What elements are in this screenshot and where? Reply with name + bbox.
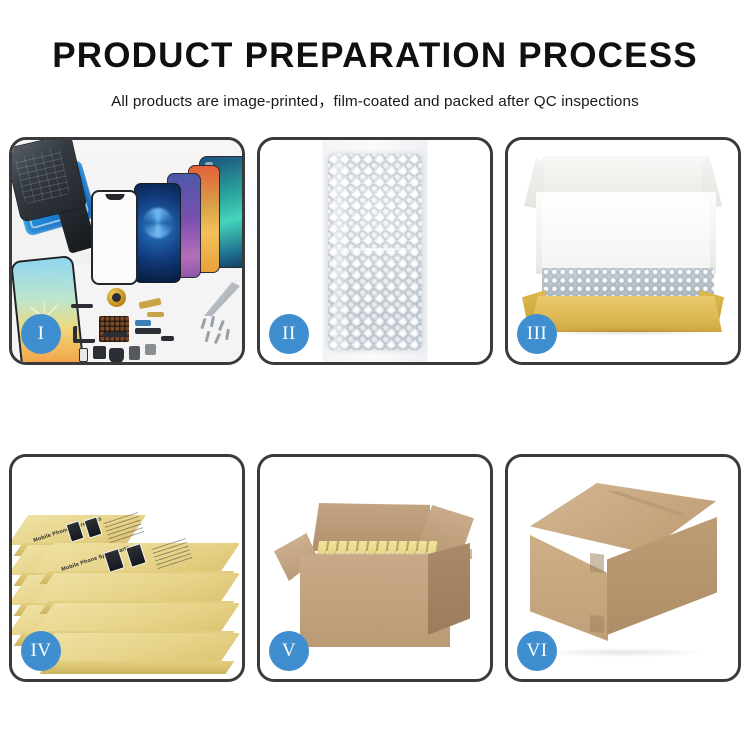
flex-cable-b (139, 298, 162, 309)
box-top-face (34, 603, 240, 633)
screw-icon (200, 318, 206, 329)
step-panel-3: III (505, 137, 741, 365)
screw-icon (205, 331, 211, 342)
step-panel-6: VI (505, 454, 741, 682)
header: PRODUCT PREPARATION PROCESS All products… (0, 0, 750, 111)
vibrator-motor-part (107, 288, 126, 307)
flex-cable-f (135, 320, 151, 326)
flex-cable-c (147, 312, 164, 317)
drop-shadow (532, 328, 722, 336)
antenna-strip-part (103, 332, 127, 337)
small-parts-cluster (69, 288, 195, 362)
phone-blue-lightning (134, 183, 181, 283)
carton-edge-tab-upper (590, 553, 604, 573)
step-badge-2: II (269, 314, 309, 354)
bubble-wrapped-product (542, 268, 714, 300)
step-panel-5: V (257, 454, 493, 682)
box-side-face (40, 661, 235, 674)
screw-icon (210, 316, 215, 327)
step-badge-3: III (517, 314, 557, 354)
screw-icon (218, 320, 225, 331)
process-steps-grid: I II (9, 137, 741, 682)
flex-cable-d (73, 326, 95, 343)
carton-edge-tab-lower (590, 615, 604, 633)
button-part (129, 346, 140, 360)
step-badge-4: IV (21, 631, 61, 671)
flex-cable-e (135, 328, 161, 334)
carton-front-face (300, 555, 450, 647)
bubble-wrap-sleeve (328, 154, 422, 350)
drop-shadow (538, 648, 708, 657)
flex-cable-a (71, 304, 93, 308)
foam-sheet (542, 198, 710, 268)
bracket-part (145, 344, 156, 355)
camera-module-part (93, 346, 106, 359)
box-front-wall (530, 296, 722, 332)
box-top-face (34, 573, 240, 603)
step-panel-4: Mobile Phone Spare Parts (9, 454, 245, 682)
connector-part (161, 336, 174, 341)
step-badge-6: VI (517, 631, 557, 671)
wrap-highlight (334, 154, 349, 350)
product-preparation-infographic: PRODUCT PREPARATION PROCESS All products… (0, 0, 750, 750)
box-top-face (34, 633, 240, 663)
step-panel-2: II (257, 137, 493, 365)
screw-icon (214, 333, 221, 344)
screws-group (202, 316, 236, 346)
screw-icon (225, 329, 230, 340)
ic-chip-part (99, 316, 129, 342)
carton-side-face (428, 543, 470, 635)
sim-tray-part (79, 348, 88, 362)
page-subtitle: All products are image-printed，film-coat… (0, 75, 750, 111)
step-badge-1: I (21, 314, 61, 354)
speaker-part (109, 348, 124, 362)
screen-protector-glass (91, 190, 138, 285)
page-title: PRODUCT PREPARATION PROCESS (0, 0, 750, 75)
step-badge-5: V (269, 631, 309, 671)
step-panel-1: I (9, 137, 245, 365)
